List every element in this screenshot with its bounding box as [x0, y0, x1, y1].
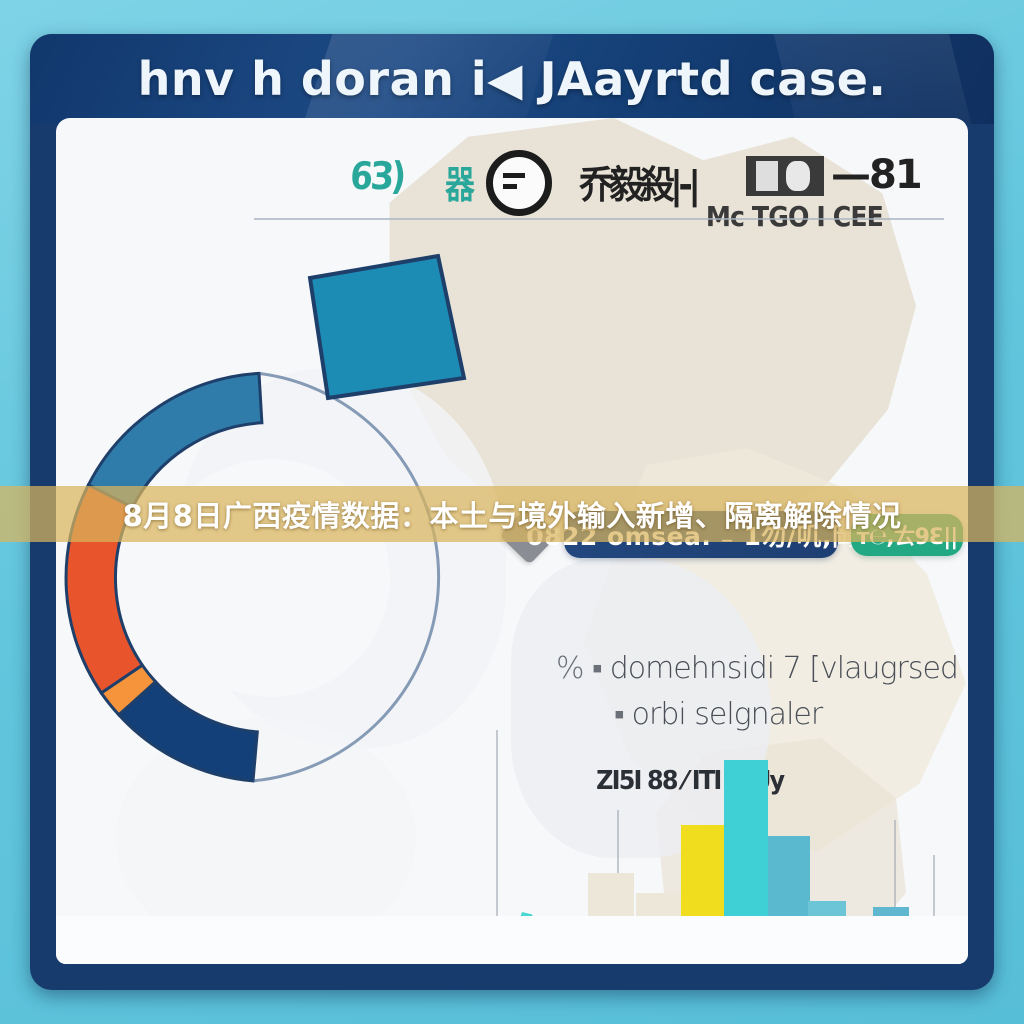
bar-block-icon: [746, 156, 824, 196]
stats-row: 6З) 器 乔毅殺|-| —81 Mc TGO I CEE: [56, 142, 968, 222]
stat-glyph-4: —81: [831, 152, 921, 198]
donut-slice-4: [119, 682, 257, 781]
stat-glyph-3: 乔毅殺|-|: [579, 154, 696, 209]
page-title: hnv h doran i◀ JAayrtd case.: [30, 52, 994, 106]
header-divider: [254, 218, 944, 220]
donut-slice-5: [310, 256, 464, 398]
overlay-banner: 8月8日广西疫情数据：本土与境外输入新增、隔离解除情况: [0, 486, 1024, 542]
stat-glyph-1: 6З): [349, 154, 405, 198]
stat-glyph-2: 器: [445, 154, 475, 209]
card-header: hnv h doran i◀ JAayrtd case.: [30, 34, 994, 124]
face-icon: [486, 150, 552, 216]
panel-bottom-fill: [56, 916, 968, 964]
bullet-list: % ▪domehnsidi 7 [vlaugrsed carl ▪orbi se…: [556, 646, 968, 738]
overlay-banner-text: 8月8日广西疫情数据：本土与境外输入新增、隔离解除情况: [123, 493, 902, 535]
bullet-marker-2: ▪: [614, 697, 624, 732]
bullet-text-2: orbi selgnaler: [632, 697, 823, 732]
bullet-line-1: % ▪domehnsidi 7 [vlaugrsed carl: [556, 646, 968, 692]
bullet-marker-1: % ▪: [556, 651, 602, 686]
donut-slice-exploded: [288, 238, 488, 438]
screenshot-root: hnv h doran i◀ JAayrtd case. 6З) 器 乔毅殺|-…: [0, 0, 1024, 1024]
stat-sublabel: Mc TGO I CEE: [706, 200, 883, 233]
bullet-text-1: domehnsidi 7 [vlaugrsed carl: [610, 651, 968, 686]
